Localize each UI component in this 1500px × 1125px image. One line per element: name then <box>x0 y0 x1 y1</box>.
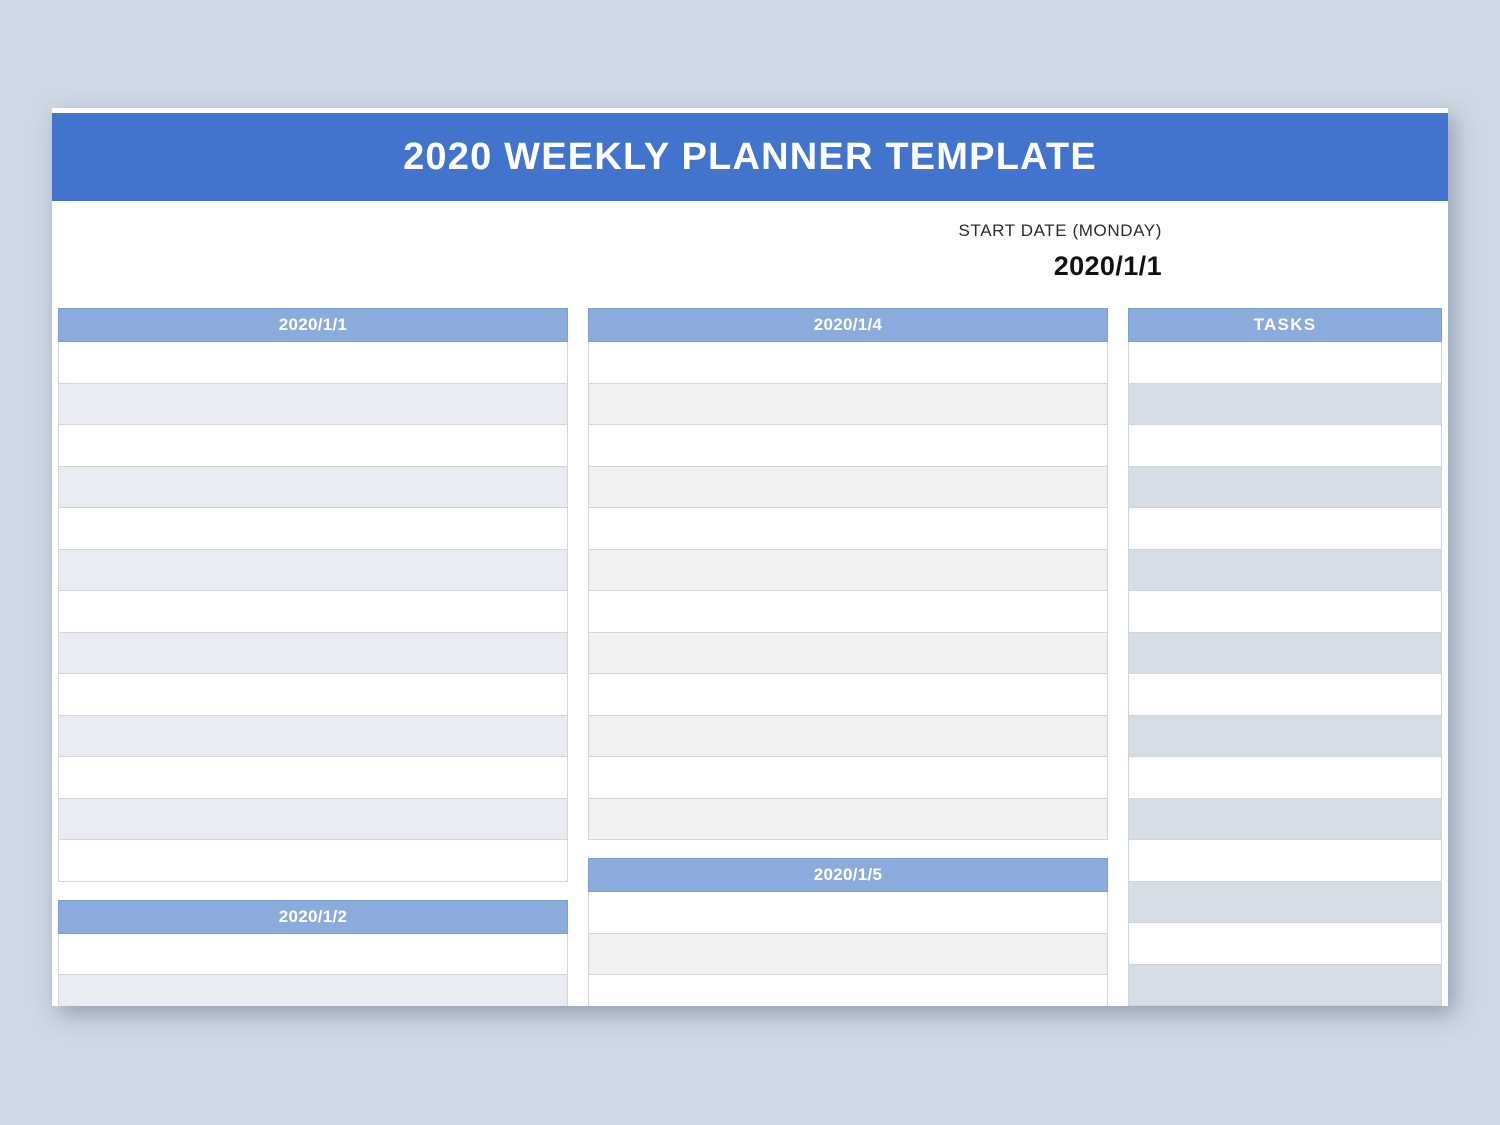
day-block: 2020/1/4 <box>588 308 1108 840</box>
entry-row[interactable] <box>58 975 568 1006</box>
entry-row[interactable] <box>588 892 1108 934</box>
entry-row[interactable] <box>58 840 568 882</box>
task-row[interactable] <box>1128 425 1442 467</box>
entry-row[interactable] <box>58 342 568 384</box>
entry-row[interactable] <box>58 674 568 716</box>
task-row[interactable] <box>1128 965 1442 1007</box>
entry-row[interactable] <box>58 716 568 758</box>
planner-page: 2020 WEEKLY PLANNER TEMPLATE START DATE … <box>52 108 1448 1006</box>
entry-row[interactable] <box>58 934 568 976</box>
task-row[interactable] <box>1128 882 1442 924</box>
entry-row[interactable] <box>588 550 1108 592</box>
day-block: 2020/1/5 <box>588 858 1108 1006</box>
task-row[interactable] <box>1128 923 1442 965</box>
task-row[interactable] <box>1128 633 1442 675</box>
title-banner: 2020 WEEKLY PLANNER TEMPLATE <box>52 113 1448 201</box>
entry-row[interactable] <box>58 633 568 675</box>
entry-row[interactable] <box>588 674 1108 716</box>
entry-row[interactable] <box>588 799 1108 841</box>
start-date-label: START DATE (MONDAY) <box>52 221 1162 241</box>
column-tasks: TASKS <box>1128 308 1442 1006</box>
entry-row[interactable] <box>58 384 568 426</box>
entry-row[interactable] <box>58 425 568 467</box>
entry-row[interactable] <box>588 757 1108 799</box>
task-row[interactable] <box>1128 508 1442 550</box>
task-row[interactable] <box>1128 674 1442 716</box>
start-date-block: START DATE (MONDAY) 2020/1/1 <box>52 201 1448 308</box>
entry-row[interactable] <box>588 591 1108 633</box>
tasks-header[interactable]: TASKS <box>1128 308 1442 342</box>
task-row[interactable] <box>1128 757 1442 799</box>
task-row[interactable] <box>1128 384 1442 426</box>
task-row[interactable] <box>1128 591 1442 633</box>
entry-row[interactable] <box>58 591 568 633</box>
task-row[interactable] <box>1128 799 1442 841</box>
entry-row[interactable] <box>58 508 568 550</box>
day-block: 2020/1/1 <box>58 308 568 882</box>
entry-row[interactable] <box>58 799 568 841</box>
entry-row[interactable] <box>588 384 1108 426</box>
day-header[interactable]: 2020/1/1 <box>58 308 568 342</box>
page-title: 2020 WEEKLY PLANNER TEMPLATE <box>403 136 1097 179</box>
task-row[interactable] <box>1128 840 1442 882</box>
task-row[interactable] <box>1128 467 1442 509</box>
day-header[interactable]: 2020/1/5 <box>588 858 1108 892</box>
day-header[interactable]: 2020/1/2 <box>58 900 568 934</box>
task-row[interactable] <box>1128 550 1442 592</box>
entry-row[interactable] <box>58 467 568 509</box>
entry-row[interactable] <box>588 467 1108 509</box>
start-date-value[interactable]: 2020/1/1 <box>52 251 1162 282</box>
entry-row[interactable] <box>588 425 1108 467</box>
entry-row[interactable] <box>588 716 1108 758</box>
entry-row[interactable] <box>58 757 568 799</box>
day-header[interactable]: 2020/1/4 <box>588 308 1108 342</box>
entry-row[interactable] <box>58 550 568 592</box>
entry-row[interactable] <box>588 342 1108 384</box>
day-block: 2020/1/2 <box>58 900 568 1007</box>
task-row[interactable] <box>1128 342 1442 384</box>
planner-grid: 2020/1/12020/1/2 2020/1/42020/1/5 TASKS <box>52 308 1448 1006</box>
entry-row[interactable] <box>588 508 1108 550</box>
task-row[interactable] <box>1128 716 1442 758</box>
entry-row[interactable] <box>588 975 1108 1006</box>
entry-row[interactable] <box>588 934 1108 976</box>
entry-row[interactable] <box>588 633 1108 675</box>
